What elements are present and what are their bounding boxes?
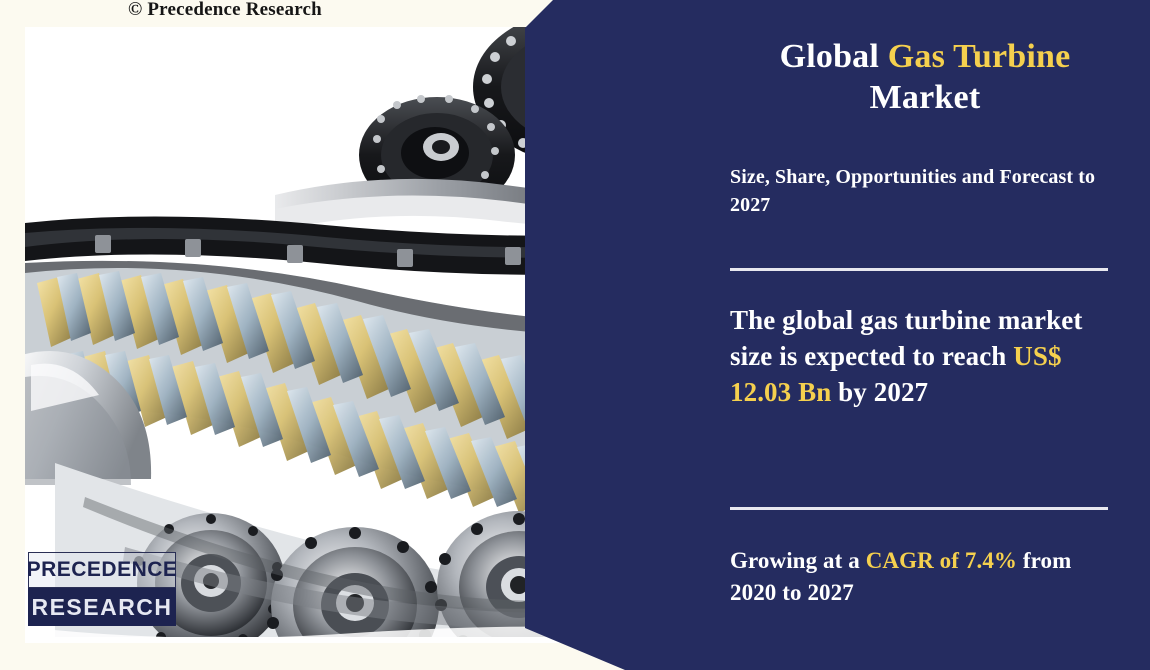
logo-word-research: RESEARCH bbox=[28, 588, 176, 626]
title-highlight: Gas Turbine bbox=[888, 38, 1071, 75]
divider-top bbox=[730, 268, 1108, 271]
logo-word-precedence: PRECEDENCE bbox=[28, 552, 176, 588]
precedence-research-logo: PRECEDENCE RESEARCH bbox=[28, 552, 176, 626]
page-title: Global Gas Turbine Market bbox=[730, 36, 1120, 119]
infographic-canvas: © Precedence Research PRECEDENCE RESEARC… bbox=[0, 0, 1150, 670]
cagr-highlight-value: CAGR of 7.4% bbox=[866, 548, 1017, 573]
title-part-1: Global bbox=[780, 38, 888, 75]
cagr-part-1: Growing at a bbox=[730, 548, 866, 573]
market-size-statement: The global gas turbine market size is ex… bbox=[730, 303, 1128, 411]
subtitle: Size, Share, Opportunities and Forecast … bbox=[730, 163, 1122, 220]
divider-bottom bbox=[730, 507, 1108, 510]
text-column: Global Gas Turbine Market Size, Share, O… bbox=[730, 0, 1120, 670]
title-part-2: Market bbox=[870, 79, 981, 116]
statement-part-2: by 2027 bbox=[831, 377, 928, 407]
cagr-statement: Growing at a CAGR of 7.4% from 2020 to 2… bbox=[730, 545, 1122, 608]
copyright-label: © Precedence Research bbox=[128, 0, 322, 21]
